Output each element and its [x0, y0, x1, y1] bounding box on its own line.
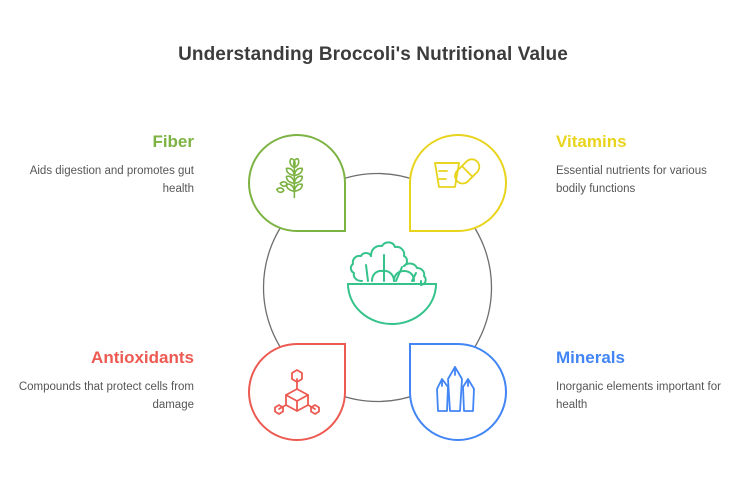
- node-description-fiber: Aids digestion and promotes gut health: [22, 163, 194, 199]
- node-description-vitamins: Essential nutrients for various bodily f…: [556, 163, 728, 199]
- node-label-antioxidants: Antioxidants: [18, 348, 194, 368]
- node-badge-vitamins[interactable]: [410, 135, 506, 231]
- node-badge-minerals[interactable]: [410, 344, 506, 440]
- broccoli-bowl-icon: [348, 242, 436, 324]
- node-label-fiber: Fiber: [22, 132, 194, 152]
- nutrition-diagram: [215, 125, 540, 450]
- minerals-badge-outline: [410, 344, 506, 440]
- node-label-vitamins: Vitamins: [556, 132, 728, 152]
- node-text-antioxidants: Antioxidants Compounds that protect cell…: [18, 348, 194, 415]
- page-title: Understanding Broccoli's Nutritional Val…: [0, 44, 746, 66]
- node-badge-antioxidants[interactable]: [249, 344, 345, 440]
- node-description-minerals: Inorganic elements important for health: [556, 379, 728, 415]
- node-text-minerals: Minerals Inorganic elements important fo…: [556, 348, 728, 415]
- node-text-fiber: Fiber Aids digestion and promotes gut he…: [22, 132, 194, 199]
- antioxidants-badge-outline: [249, 344, 345, 440]
- node-text-vitamins: Vitamins Essential nutrients for various…: [556, 132, 728, 199]
- node-label-minerals: Minerals: [556, 348, 728, 368]
- node-badge-fiber[interactable]: [249, 135, 345, 231]
- node-description-antioxidants: Compounds that protect cells from damage: [18, 379, 194, 415]
